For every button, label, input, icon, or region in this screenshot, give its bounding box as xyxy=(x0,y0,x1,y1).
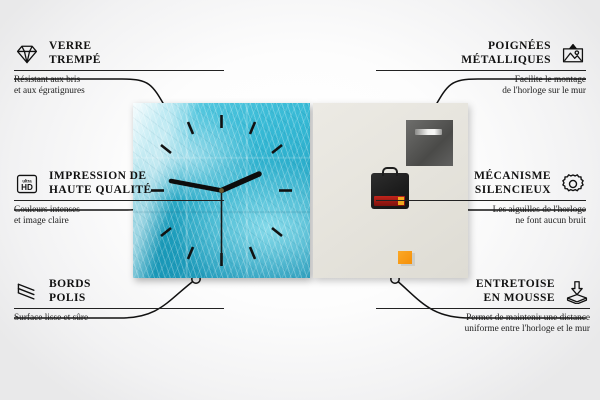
metal-hanger-plate xyxy=(406,120,453,166)
feature-mecanisme-silencieux: MÉCANISME SILENCIEUX Les aiguilles de l'… xyxy=(376,170,586,228)
framed-picture-hanger-icon xyxy=(560,42,586,66)
feature-header: VERRE TREMPÉ xyxy=(14,40,224,67)
divider xyxy=(376,200,586,201)
feature-bords-polis: BORDS POLIS Surface lisse et sûre xyxy=(14,278,224,324)
infographic-canvas: VERRE TREMPÉ Résistant aux bris et aux é… xyxy=(0,0,600,400)
feature-rule-wrap xyxy=(14,308,224,309)
foam-spacer xyxy=(398,251,412,264)
feature-rule-wrap xyxy=(14,200,224,201)
feature-subtitle: Surface lisse et sûre xyxy=(14,313,224,324)
feature-subtitle: Permet de maintenir une distance uniform… xyxy=(376,313,590,336)
feature-impression-haute-qualite: ultra HD IMPRESSION DE HAUTE QUALITÉ Cou… xyxy=(14,170,224,228)
feature-title: ENTRETOISE EN MOUSSE xyxy=(476,278,555,305)
feature-subtitle: Facilite le montage de l'horloge sur le … xyxy=(376,75,586,98)
feature-entretoise-en-mousse: ENTRETOISE EN MOUSSE Permet de maintenir… xyxy=(376,278,590,336)
feature-rule-wrap xyxy=(376,308,590,309)
feature-subtitle: Couleurs intenses et image claire xyxy=(14,205,224,228)
feature-header: POIGNÉES MÉTALLIQUES xyxy=(376,40,586,67)
hanger-slot xyxy=(415,129,442,135)
feature-rule-wrap xyxy=(376,70,586,71)
divider xyxy=(14,308,224,309)
polished-edges-icon xyxy=(14,280,40,304)
gear-icon xyxy=(560,172,586,196)
feature-header: ultra HD IMPRESSION DE HAUTE QUALITÉ xyxy=(14,170,224,197)
feature-verre-trempe: VERRE TREMPÉ Résistant aux bris et aux é… xyxy=(14,40,224,98)
feature-title: BORDS POLIS xyxy=(49,278,91,305)
divider xyxy=(376,308,590,309)
feature-title: MÉCANISME SILENCIEUX xyxy=(474,170,551,197)
feature-header: ENTRETOISE EN MOUSSE xyxy=(376,278,590,305)
hour-hand xyxy=(222,174,260,191)
feature-header: MÉCANISME SILENCIEUX xyxy=(376,170,586,197)
feature-rule-wrap xyxy=(376,200,586,201)
feature-subtitle: Les aiguilles de l'horloge ne font aucun… xyxy=(376,205,586,228)
feature-poignees-metalliques: POIGNÉES MÉTALLIQUES Facilite le montage… xyxy=(376,40,586,98)
feature-title: IMPRESSION DE HAUTE QUALITÉ xyxy=(49,170,152,197)
feature-header: BORDS POLIS xyxy=(14,278,224,305)
feature-subtitle: Résistant aux bris et aux égratignures xyxy=(14,75,224,98)
foam-spacer-arrow-icon xyxy=(564,280,590,304)
feature-rule-wrap xyxy=(14,70,224,71)
feature-title: POIGNÉES MÉTALLIQUES xyxy=(461,40,551,67)
ultra-hd-large-text: HD xyxy=(21,183,33,192)
divider xyxy=(376,70,586,71)
ultra-hd-icon: ultra HD xyxy=(14,172,40,196)
divider xyxy=(14,70,224,71)
diamond-icon xyxy=(14,42,40,66)
feature-title: VERRE TREMPÉ xyxy=(49,40,101,67)
divider xyxy=(14,200,224,201)
